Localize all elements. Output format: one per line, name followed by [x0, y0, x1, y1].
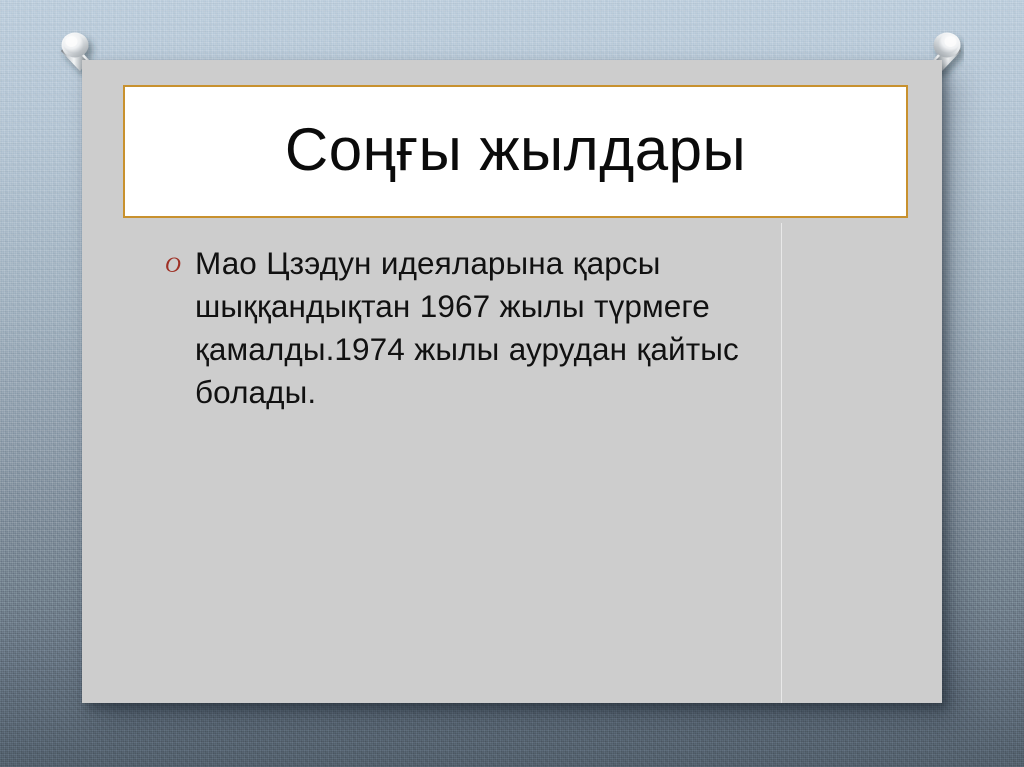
page-title: Соңғы жылдары [285, 118, 746, 185]
slide-body: O Мао Цзэдун идеяларына қарсы шыққандықт… [165, 242, 815, 414]
list-item: O Мао Цзэдун идеяларына қарсы шыққандықт… [165, 242, 815, 414]
bullet-marker-icon: O [165, 242, 195, 276]
slide-panel: Соңғы жылдары O Мао Цзэдун идеяларына қа… [82, 60, 942, 703]
presentation-slide-canvas: Соңғы жылдары O Мао Цзэдун идеяларына қа… [0, 0, 1024, 767]
slide-title-box: Соңғы жылдары [123, 85, 908, 218]
bullet-text: Мао Цзэдун идеяларына қарсы шыққандықтан… [195, 242, 815, 414]
